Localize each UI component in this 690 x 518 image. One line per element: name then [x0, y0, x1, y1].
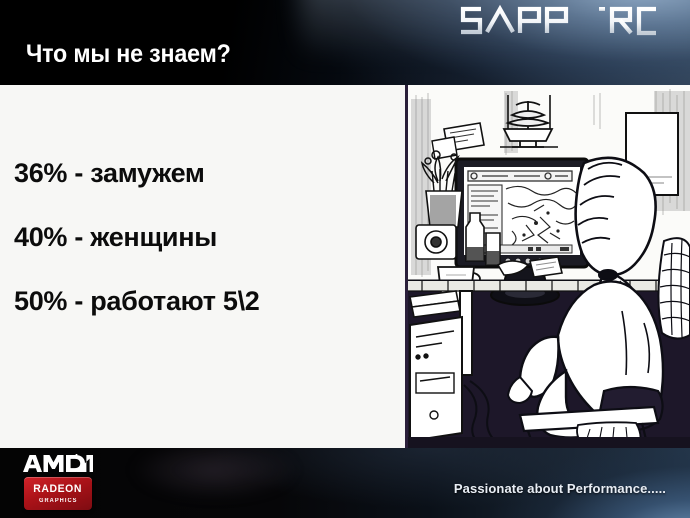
amd-logo: [20, 454, 94, 473]
slide-header: Что мы не знаем?: [0, 0, 690, 85]
sapphire-logo: [456, 4, 656, 38]
presentation-slide: Что мы не знаем? 36% - замужем 40% - жен…: [0, 0, 690, 518]
list-item: 50% - работают 5\2: [14, 288, 394, 315]
slide-title: Что мы не знаем?: [26, 40, 231, 69]
footer-tagline: Passionate about Performance.....: [454, 481, 666, 496]
list-item: 36% - замужем: [14, 160, 394, 187]
footer-smudge: [130, 448, 300, 500]
illustration-image: [408, 85, 690, 448]
statistics-list: 36% - замужем 40% - женщины 50% - работа…: [14, 160, 394, 315]
slide-footer: RADEON GRAPHICS Passionate about Perform…: [0, 448, 690, 518]
list-item: 40% - женщины: [14, 224, 394, 251]
radeon-label: RADEON: [34, 484, 83, 495]
radeon-graphics-badge: RADEON GRAPHICS: [24, 477, 92, 510]
graphics-label: GRAPHICS: [39, 498, 77, 504]
